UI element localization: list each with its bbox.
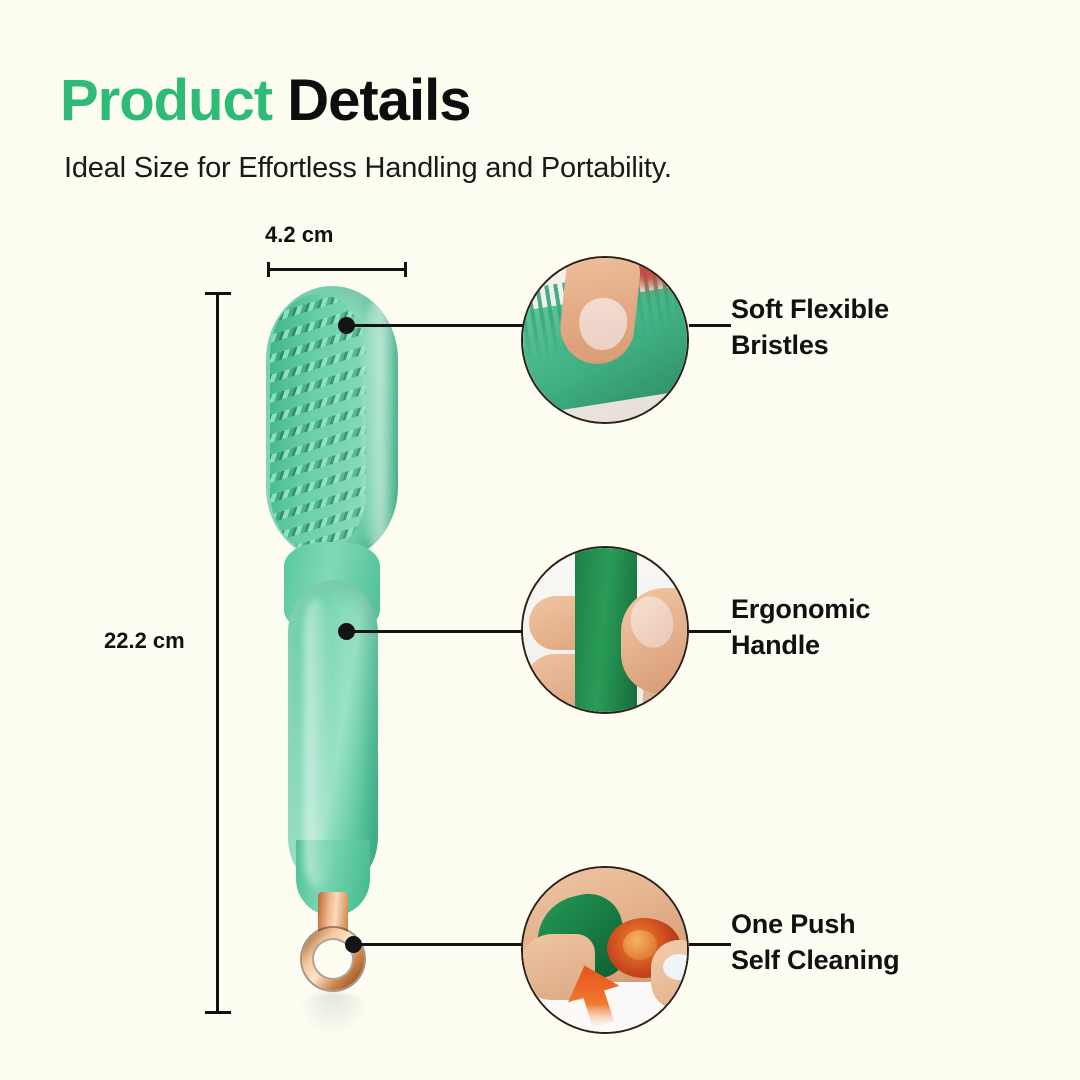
callout-label-bristles-line2: Bristles [731,328,889,364]
callout-label-handle-line1: Ergonomic [731,592,870,628]
width-dimension-line [267,268,407,271]
callout-label-handle-line2: Handle [731,628,870,664]
brush-handle-gloss [304,598,328,888]
callout-label-self-cleaning-line1: One Push [731,907,899,943]
callout-label-handle: Ergonomic Handle [731,592,870,663]
width-dimension-label: 4.2 cm [265,222,334,248]
page-title-rest: Details [287,68,470,133]
callout-leader-handle [346,630,528,633]
callout-leader-bristles-right [689,324,731,327]
width-dimension-cap-right [404,262,407,277]
brush-head-gloss [360,300,394,548]
brush-head [266,286,398,561]
callout-label-bristles-line1: Soft Flexible [731,292,889,328]
page-subtitle: Ideal Size for Effortless Handling and P… [64,152,672,185]
callout-label-bristles: Soft Flexible Bristles [731,292,889,363]
infographic-canvas: Product Details Ideal Size for Effortles… [0,0,1080,1080]
up-arrow-icon [567,964,621,1026]
height-dimension-line [216,292,219,1014]
product-reflection [296,992,372,1038]
callout-label-self-cleaning-line2: Self Cleaning [731,943,899,979]
page-title-highlight: Product [60,68,272,133]
callout-leader-handle-right [689,630,731,633]
callout-label-self-cleaning: One Push Self Cleaning [731,907,899,978]
callout-leader-self-cleaning [353,943,528,946]
callout-leader-bristles [346,324,528,327]
width-dimension-bar [267,262,407,276]
height-dimension-label: 22.2 cm [104,628,185,654]
callout-photo-bristles [521,256,689,424]
brush-bristles [270,294,366,553]
page-title: Product Details [60,72,470,130]
height-dimension-bar [205,292,229,1014]
height-dimension-cap-bottom [205,1011,231,1014]
callout-photo-handle [521,546,689,714]
callout-photo-self-cleaning [521,866,689,1034]
callout-leader-self-cleaning-right [689,943,731,946]
